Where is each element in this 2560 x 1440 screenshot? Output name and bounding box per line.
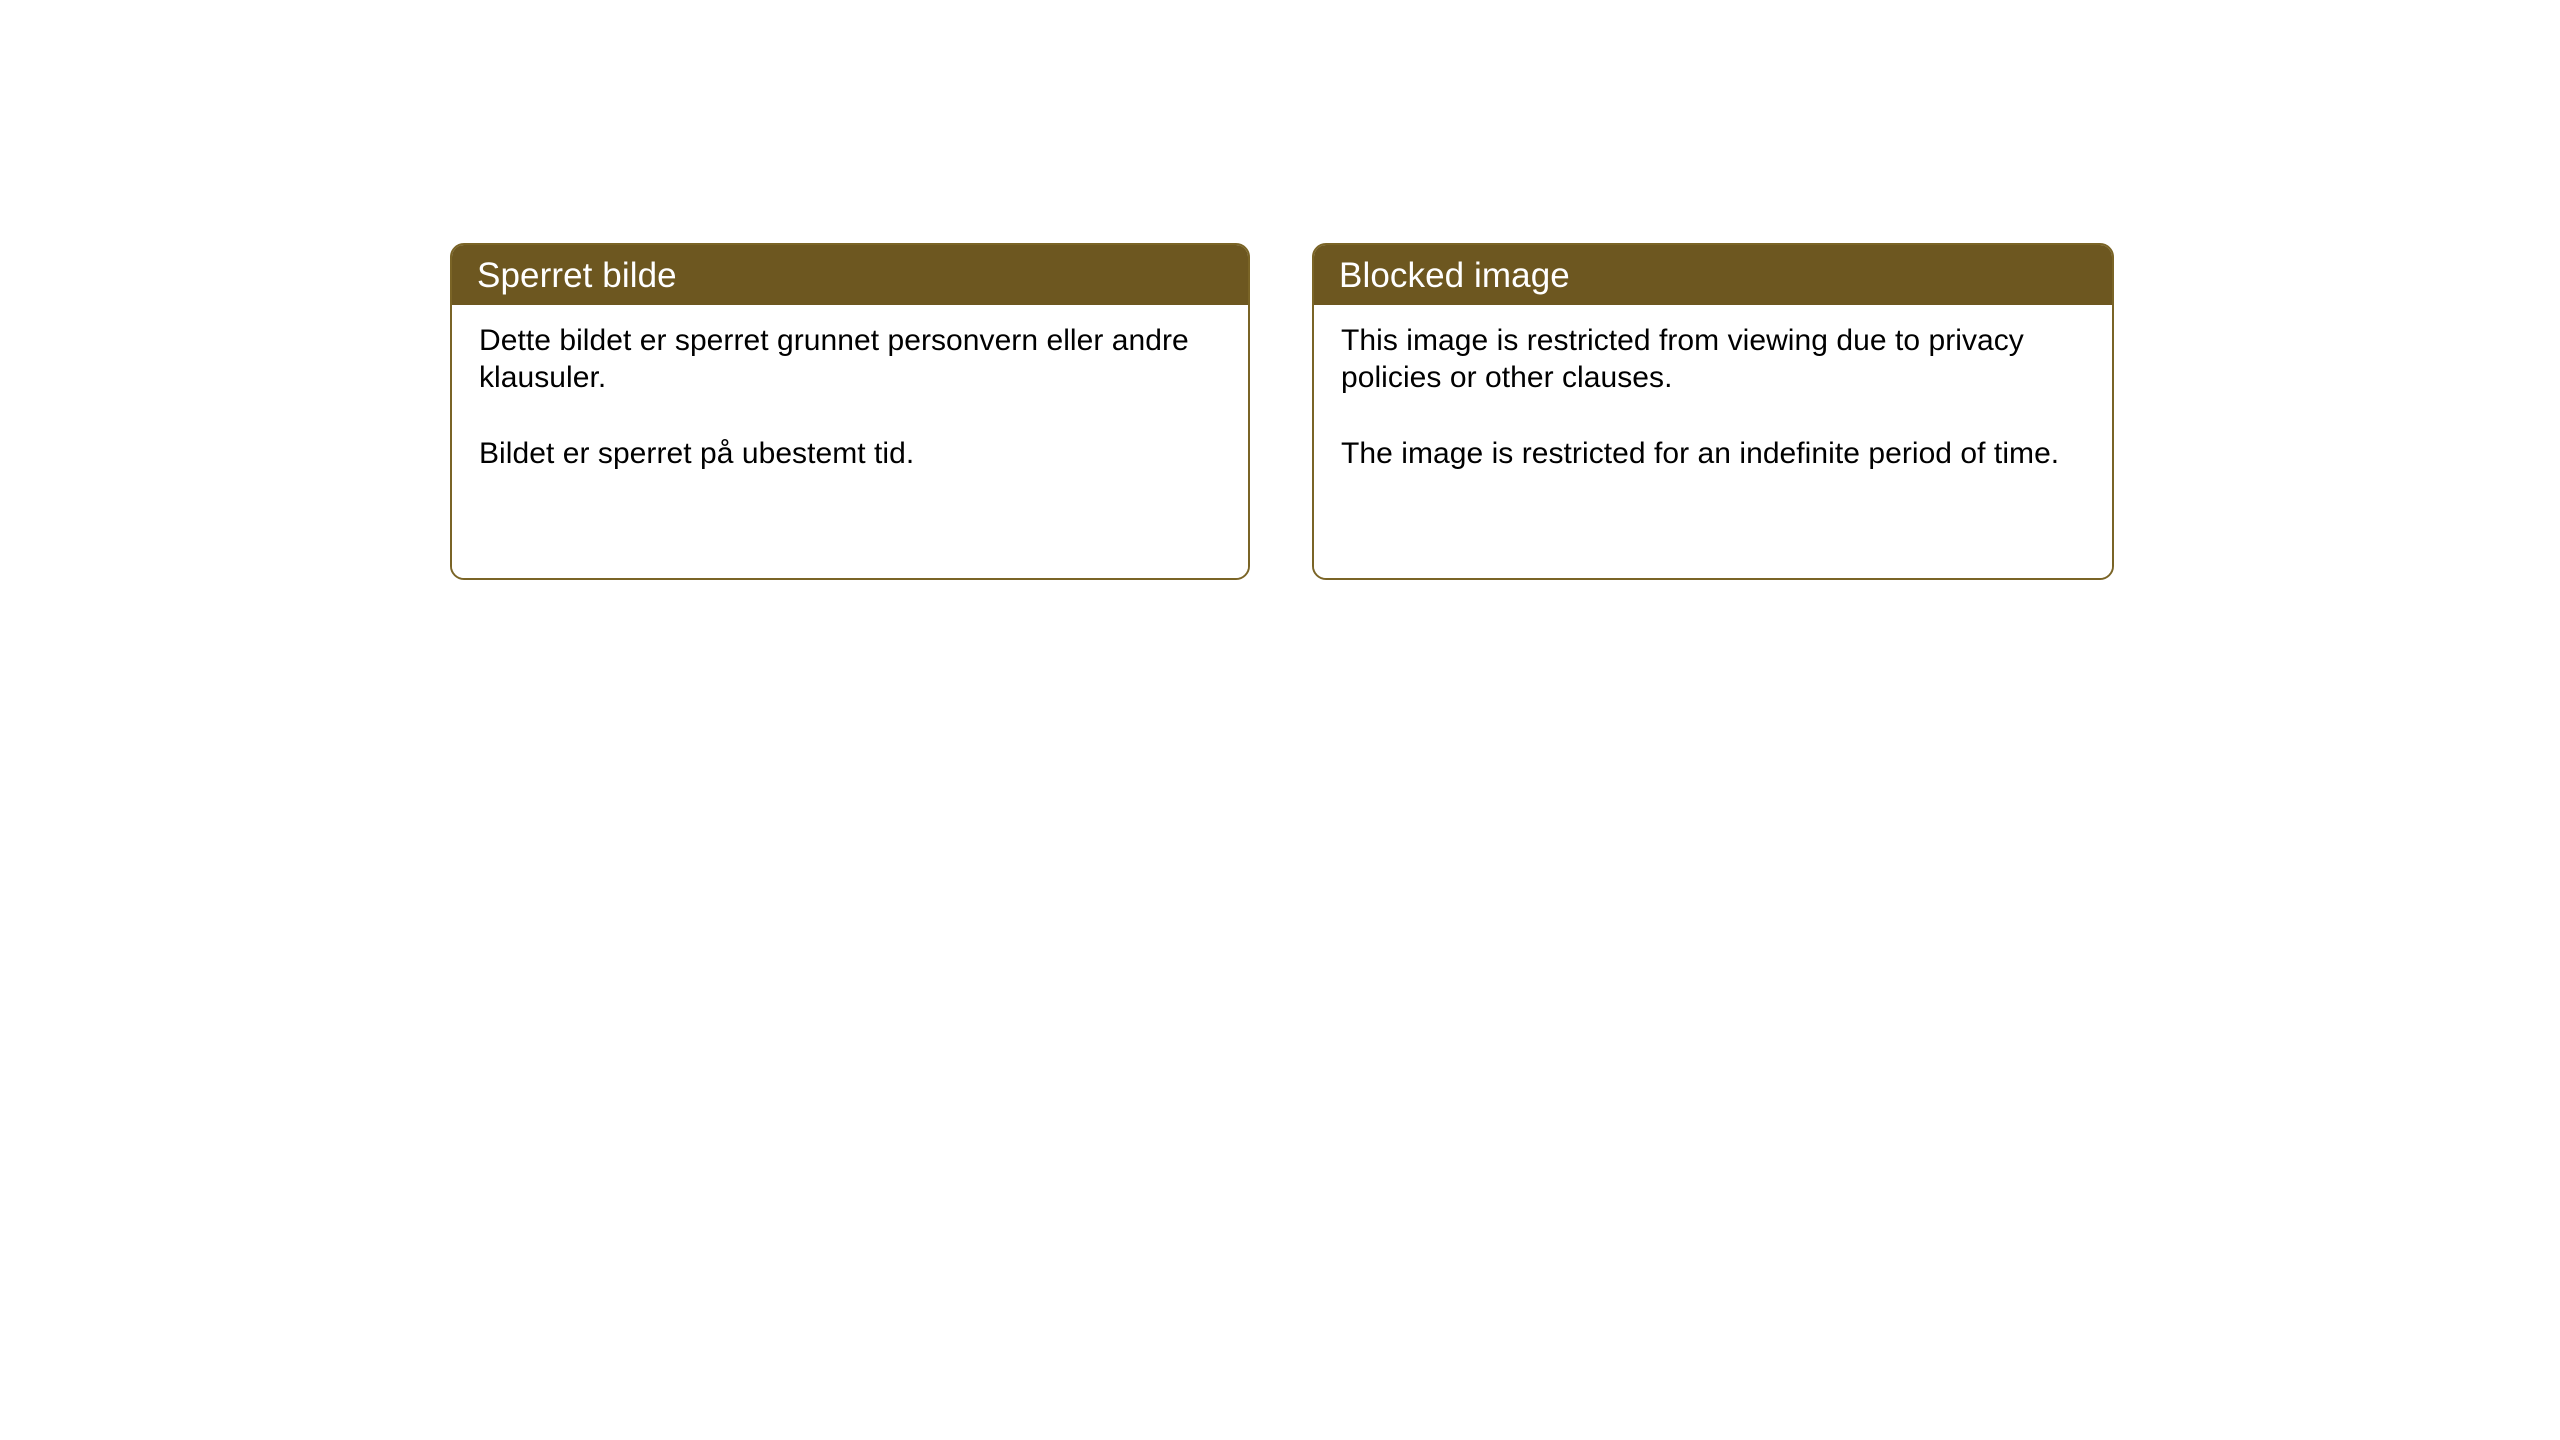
blocked-image-notice-norwegian: Sperret bilde Dette bildet er sperret gr… <box>450 243 1250 580</box>
card-paragraph-privacy-norwegian: Dette bildet er sperret grunnet personve… <box>479 323 1222 397</box>
card-title-norwegian: Sperret bilde <box>477 258 677 293</box>
card-header-english: Blocked image <box>1314 245 2112 305</box>
card-paragraph-privacy-english: This image is restricted from viewing du… <box>1341 323 2086 397</box>
card-header-norwegian: Sperret bilde <box>452 245 1248 305</box>
blocked-image-notice-english: Blocked image This image is restricted f… <box>1312 243 2114 580</box>
card-title-english: Blocked image <box>1339 258 1570 293</box>
page-root: Sperret bilde Dette bildet er sperret gr… <box>0 0 2560 1440</box>
card-paragraph-duration-english: The image is restricted for an indefinit… <box>1341 436 2086 473</box>
card-body-norwegian: Dette bildet er sperret grunnet personve… <box>452 305 1248 578</box>
card-body-english: This image is restricted from viewing du… <box>1314 305 2112 578</box>
card-paragraph-duration-norwegian: Bildet er sperret på ubestemt tid. <box>479 436 1222 473</box>
